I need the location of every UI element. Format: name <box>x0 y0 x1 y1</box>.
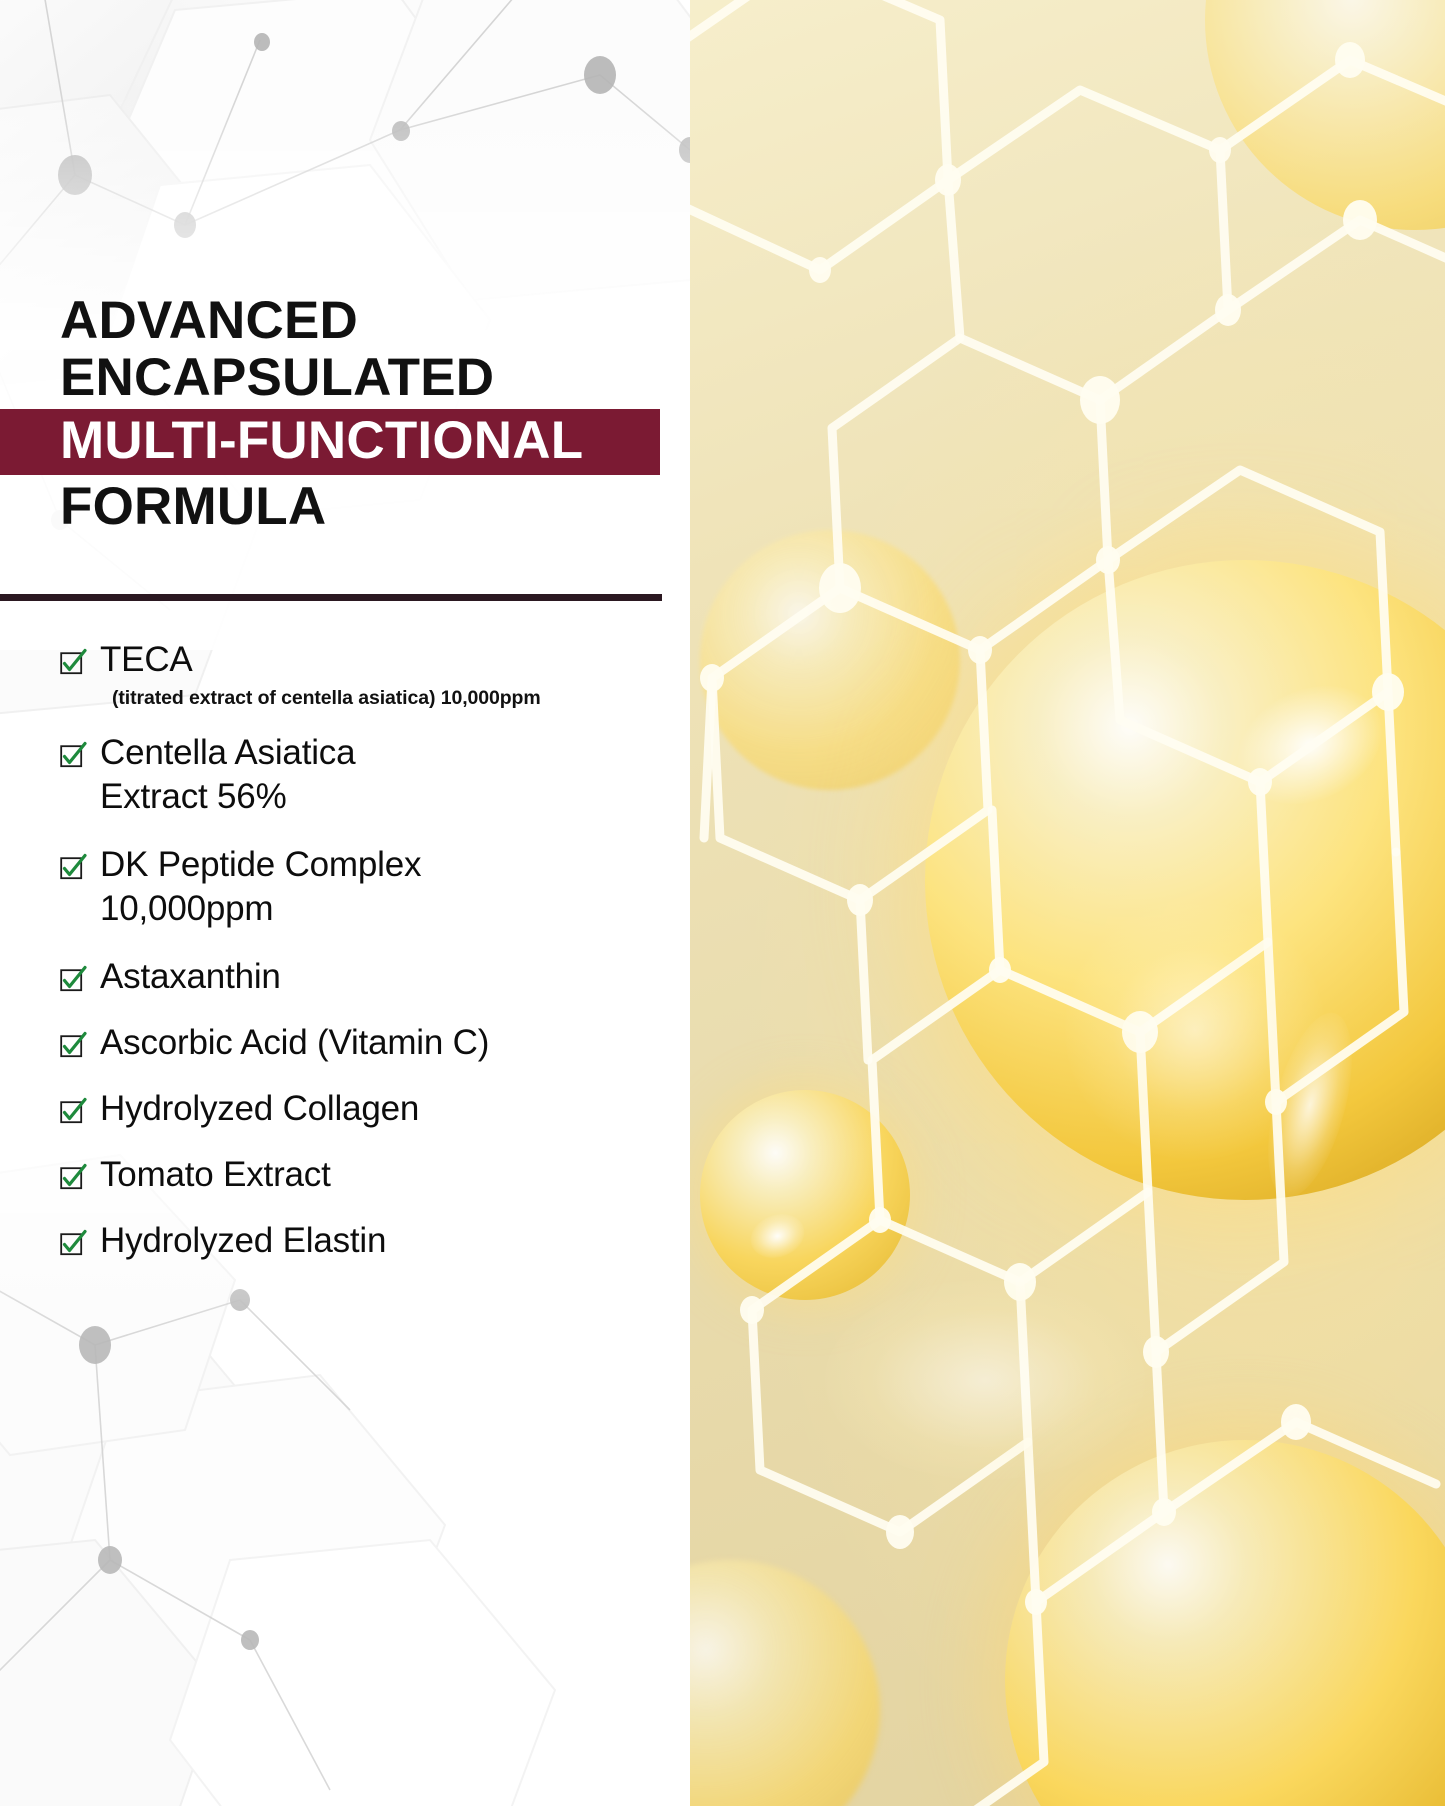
checkbox-check-icon <box>60 1098 86 1124</box>
list-item: Astaxanthin <box>60 955 680 999</box>
checkbox-check-icon <box>60 742 86 768</box>
headline-line-1: ADVANCED <box>0 292 690 349</box>
ingredient-detail: (titrated extract of centella asiatica) … <box>100 685 680 711</box>
ingredient-name: Hydrolyzed Elastin <box>100 1219 680 1263</box>
ingredient-name: TECA <box>100 638 680 682</box>
headline-line-2: ENCAPSULATED <box>0 349 690 406</box>
checkbox-check-icon <box>60 854 86 880</box>
left-content-panel: ADVANCED ENCAPSULATED MULTI-FUNCTIONAL F… <box>0 0 690 1806</box>
headline-line-3-highlighted: MULTI-FUNCTIONAL <box>0 409 660 475</box>
list-item: TECA (titrated extract of centella asiat… <box>60 638 680 711</box>
ingredient-name: Hydrolyzed Collagen <box>100 1087 680 1131</box>
hexagon-molecular-network-icon <box>690 0 1445 1806</box>
ingredient-name: Centella Asiatica <box>100 731 680 775</box>
list-item: Hydrolyzed Elastin <box>60 1219 680 1263</box>
checkbox-check-icon <box>60 1164 86 1190</box>
headline-block: ADVANCED ENCAPSULATED MULTI-FUNCTIONAL F… <box>0 292 690 535</box>
ingredient-name: Tomato Extract <box>100 1153 680 1197</box>
list-item: Tomato Extract <box>60 1153 680 1197</box>
ingredient-name: DK Peptide Complex <box>100 843 680 887</box>
product-visual-panel <box>690 0 1445 1806</box>
ingredient-name: Ascorbic Acid (Vitamin C) <box>100 1021 680 1065</box>
checkbox-check-icon <box>60 966 86 992</box>
section-divider <box>0 594 662 601</box>
checkbox-check-icon <box>60 1032 86 1058</box>
ingredient-list: TECA (titrated extract of centella asiat… <box>60 638 680 1285</box>
headline-line-4: FORMULA <box>0 478 690 535</box>
checkbox-check-icon <box>60 649 86 675</box>
product-infographic-page: ADVANCED ENCAPSULATED MULTI-FUNCTIONAL F… <box>0 0 1445 1806</box>
list-item: Centella Asiatica Extract 56% <box>60 731 680 819</box>
ingredient-name-cont: 10,000ppm <box>100 887 680 931</box>
ingredient-name-cont: Extract 56% <box>100 775 680 819</box>
ingredient-name: Astaxanthin <box>100 955 680 999</box>
list-item: DK Peptide Complex 10,000ppm <box>60 843 680 931</box>
checkbox-check-icon <box>60 1230 86 1256</box>
list-item: Ascorbic Acid (Vitamin C) <box>60 1021 680 1065</box>
list-item: Hydrolyzed Collagen <box>60 1087 680 1131</box>
